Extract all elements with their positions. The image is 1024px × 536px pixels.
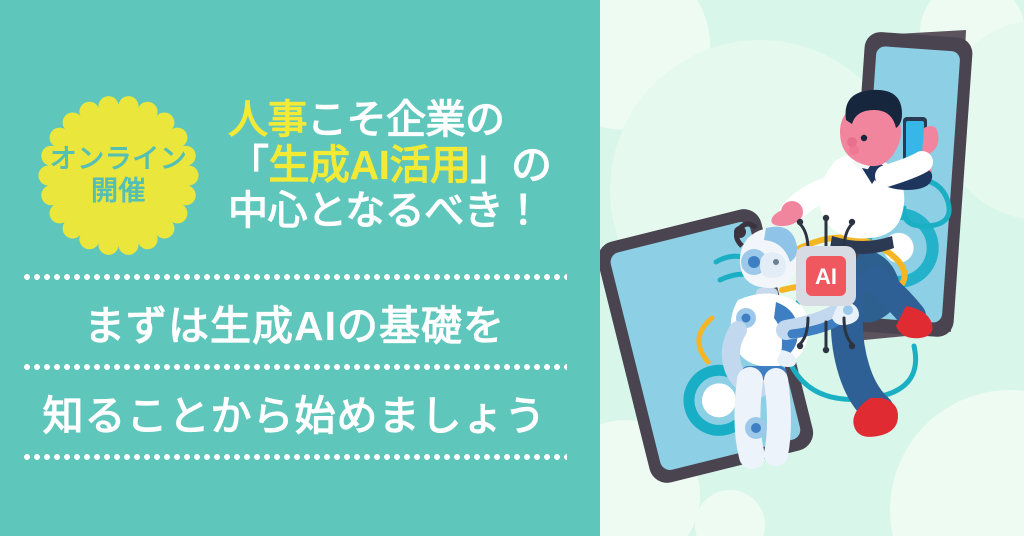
subheading-line-1: まずは生成AIの基礎を: [22, 282, 567, 362]
ai-illustration: AI: [600, 0, 1024, 536]
headline: 人事こそ企業の 「生成AI活用」の 中心となるべき！: [228, 98, 588, 234]
headline-line-2: 「生成AI活用」の: [228, 143, 588, 189]
subheading-line-2: 知ることから始めましょう: [22, 372, 567, 452]
ai-chip-label: AI: [815, 264, 837, 289]
headline-line-1-rest: こそ企業の: [307, 98, 505, 142]
headline-line-3: 中心となるべき！: [228, 189, 588, 234]
headline-quote-close: 」: [471, 142, 512, 188]
left-text-panel: オンライン 開催 人事こそ企業の 「生成AI活用」の 中心となるべき！ まずは生…: [0, 0, 600, 536]
scalloped-badge-shape: [27, 88, 210, 263]
dotted-rule-top: [22, 272, 567, 282]
headline-highlight-seiseiai: 生成AI活用: [269, 142, 471, 188]
ai-chip: AI: [796, 215, 856, 353]
headline-line-1: 人事こそ企業の: [228, 98, 588, 143]
dotted-rule-bottom: [22, 452, 567, 462]
seminar-banner: オンライン 開催 人事こそ企業の 「生成AI活用」の 中心となるべき！ まずは生…: [0, 0, 1024, 536]
online-event-badge: オンライン 開催: [27, 88, 210, 263]
headline-quote-open: 「: [228, 142, 269, 188]
dotted-rule-middle: [22, 362, 567, 372]
headline-line-2-rest: の: [511, 142, 552, 188]
headline-highlight-jinji: 人事: [228, 98, 307, 142]
subheading-block: まずは生成AIの基礎を 知ることから始めましょう: [22, 272, 567, 462]
illustration-panel: AI: [600, 0, 1024, 536]
